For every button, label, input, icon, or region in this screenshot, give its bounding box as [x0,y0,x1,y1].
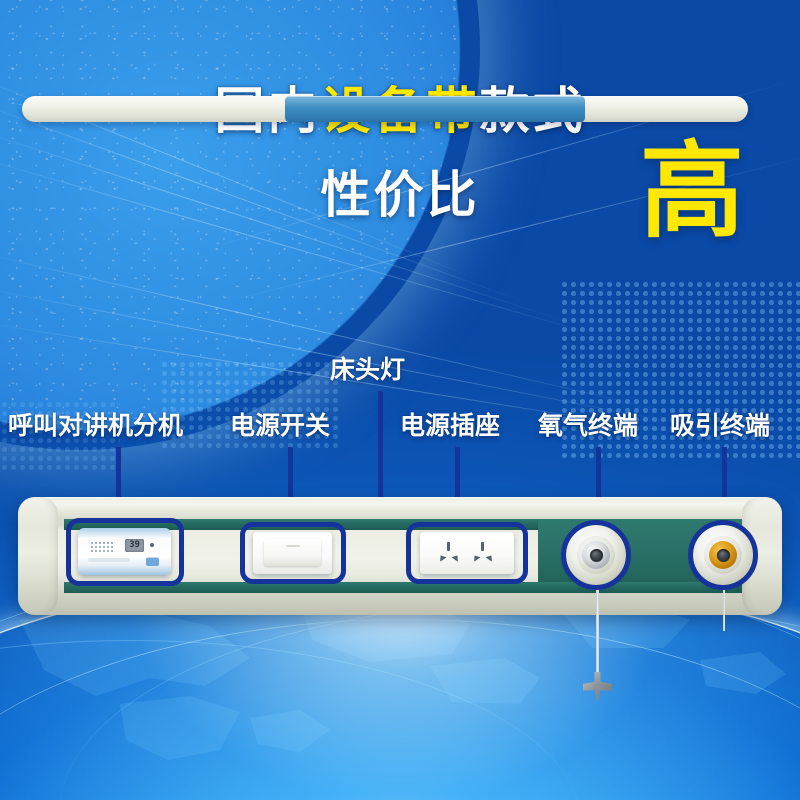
highlight-ring-oxygen [561,520,631,590]
callout-labels: 呼叫对讲机分机 电源开关 床头灯 电源插座 氧气终端 吸引终端 [0,0,800,470]
highlight-box-intercom [66,518,184,586]
callout-label-bedlamp: 床头灯 [330,358,405,383]
highlight-box-socket [406,522,528,584]
callout-label-intercom: 呼叫对讲机分机 [8,414,183,439]
panel-rail-blue-section [285,96,585,122]
pull-cord[interactable] [596,585,599,677]
panel-end-cap-left [18,497,58,615]
callout-label-switch: 电源开关 [230,414,330,439]
highlight-ring-suction [688,520,758,590]
highlight-box-switch [240,522,346,584]
suction-drain-tube [723,585,725,631]
callout-label-suction: 吸引终端 [670,414,770,439]
product-poster: 国内设备带款式 性价比 高 呼叫对讲机分机 电源开关 床头灯 电源插座 氧气终端… [0,0,800,800]
callout-label-oxygen: 氧气终端 [538,414,638,439]
callout-label-socket: 电源插座 [400,414,500,439]
